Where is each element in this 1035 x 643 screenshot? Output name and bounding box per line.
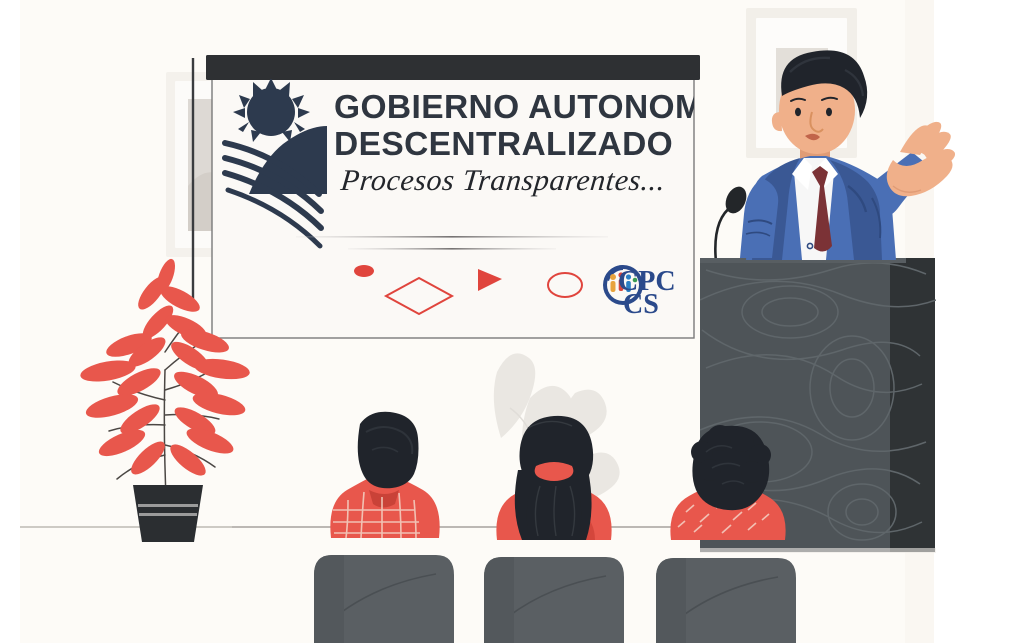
cpccs-logo-line2: CS [623, 289, 659, 320]
speaker-eye-right [826, 108, 832, 116]
screen-header-bar [206, 55, 700, 80]
presentation-illustration: GOBIERNO AUTONOMO DESCENTRALIZADO Proces… [0, 0, 1035, 643]
slide-divider-line-1 [296, 236, 608, 238]
filled-ellipse-shape [354, 265, 374, 277]
attendee-center-hair-tie [535, 462, 574, 481]
attendee-left-hair [358, 412, 419, 489]
slide-tagline: Procesos Transparentes... [338, 163, 667, 197]
plant-pot [133, 485, 203, 542]
projection-screen: GOBIERNO AUTONOMO DESCENTRALIZADO Proces… [193, 55, 730, 338]
slide-heading-line2: DESCENTRALIZADO [334, 126, 673, 163]
slide-heading-line1: GOBIERNO AUTONOMO [334, 89, 730, 126]
speaker-eye-left [795, 108, 801, 116]
slide-divider-line-2 [348, 248, 556, 250]
